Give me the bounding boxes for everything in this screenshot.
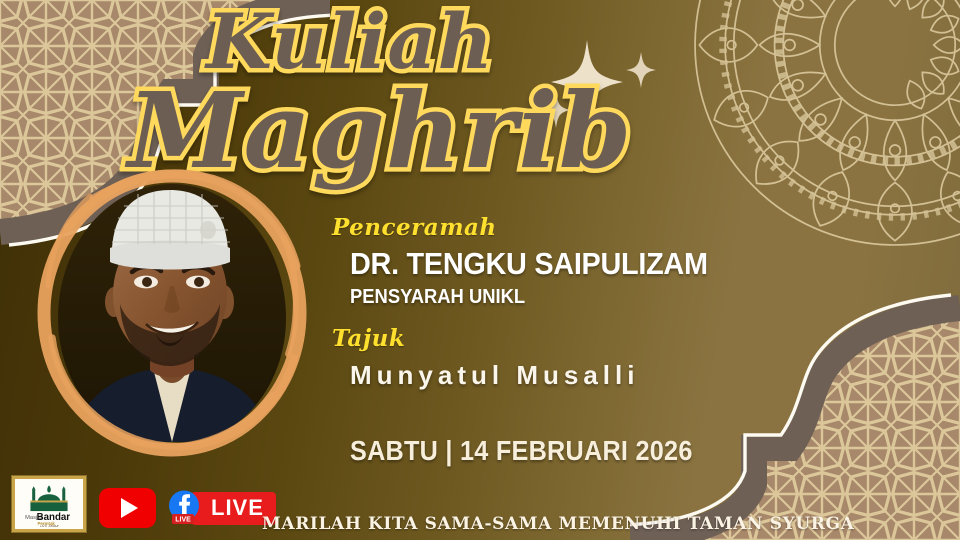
mosque-logo: Masjid Bandar Permtak مسجد باندر xyxy=(12,476,86,532)
poster-canvas: Kuliah Maghrib xyxy=(0,0,960,540)
speaker-label: Penceramah xyxy=(332,214,852,241)
footer-message: MARILAH KITA SAMA-SAMA MEMENUHI TAMAN SY… xyxy=(262,514,854,534)
speaker-name: DR. TENGKU SAIPULIZAM xyxy=(350,246,817,282)
sparkle-decoration xyxy=(525,18,675,148)
speaker-role: PENSYARAH UNIKL xyxy=(350,286,812,309)
facebook-live-badge[interactable]: LIVE LIVE xyxy=(164,489,276,527)
topic-label: Tajuk xyxy=(332,325,852,352)
youtube-icon[interactable] xyxy=(99,488,156,528)
speaker-portrait xyxy=(32,168,312,458)
svg-text:LIVE: LIVE xyxy=(175,517,191,524)
play-triangle-icon xyxy=(121,498,138,518)
event-date: SABTU | 14 FEBRUARI 2026 xyxy=(350,435,802,467)
svg-text:مسجد باندر: مسجد باندر xyxy=(38,523,58,527)
event-details: Penceramah DR. TENGKU SAIPULIZAM PENSYAR… xyxy=(332,214,852,467)
topic-title: Munyatul Musalli xyxy=(350,360,852,391)
brush-circle-frame xyxy=(32,168,312,458)
facebook-icon: LIVE xyxy=(164,489,204,527)
